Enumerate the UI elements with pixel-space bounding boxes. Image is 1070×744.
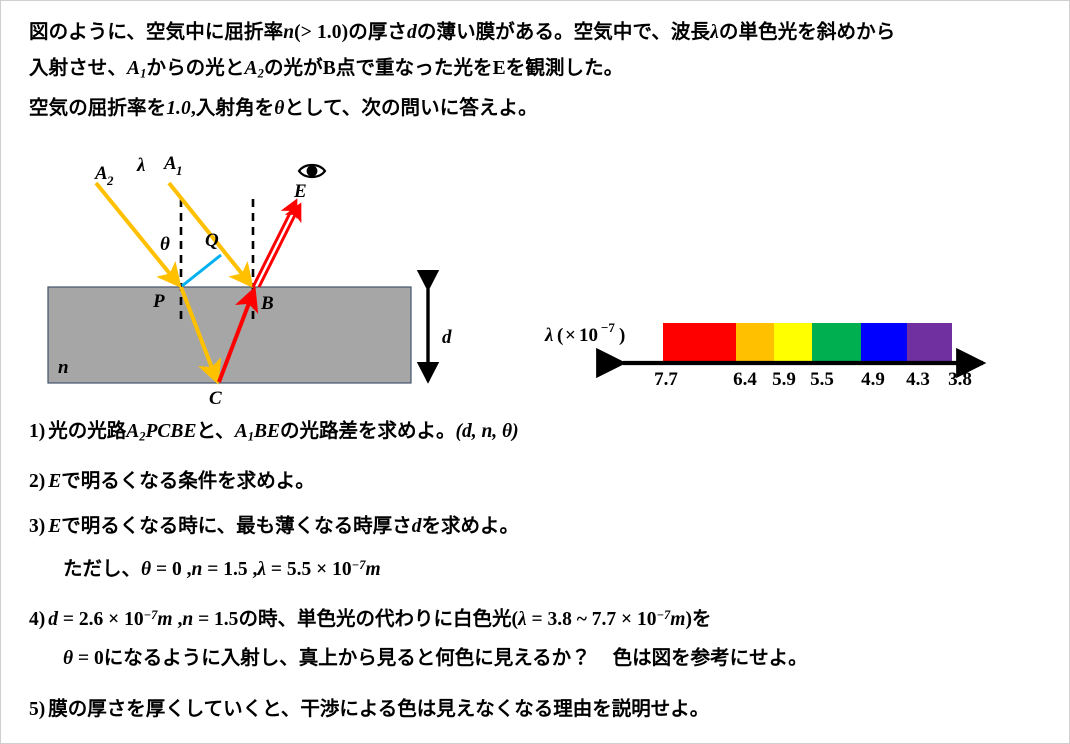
question-2-text: で明るくなる条件を求めよ。: [61, 471, 315, 492]
intro-text-1a: 図のように、空気中に屈折率: [29, 22, 283, 43]
value-air-index: 1.0: [166, 98, 191, 119]
tick-5-9: 5.9: [772, 369, 796, 390]
tick-4-9: 4.9: [861, 369, 885, 390]
label-d: d: [442, 327, 452, 348]
question-4-d-exp: −7: [144, 608, 158, 622]
question-4-lambda-unit: m: [670, 609, 685, 630]
thin-film-diagram: A 2 λ A 1 E θ Q P B C n d: [1, 151, 501, 416]
question-3-eq2: = 1.5 ,: [202, 560, 257, 581]
intro-text-2c: の光がB点で重なった光をEを観測した。: [264, 58, 623, 79]
question-1-answer-vars: (d, n, θ): [455, 421, 518, 442]
intro-text-1e: の薄い膜がある。空気中で、波長: [417, 22, 710, 43]
question-4-lambda-symbol: λ: [518, 609, 527, 630]
question-3-lambda: λ: [257, 560, 266, 581]
tick-5-5: 5.5: [810, 369, 834, 390]
question-4: 4)d = 2.6 × 10−7m ,n = 1.5の時、単色光の代わりに白色光…: [29, 601, 1049, 673]
question-4-lambda-exp: −7: [656, 608, 670, 622]
tick-4-3: 4.3: [906, 369, 930, 390]
question-4-sub-text: になるように入射し、真上から見ると何色に見えるか？: [104, 648, 591, 669]
spectrum-axis-label: λ ( × 10 −7 ): [544, 320, 625, 346]
var-theta-1: θ: [274, 98, 284, 119]
question-4-d-unit: m: [157, 609, 172, 630]
svg-text:): ): [619, 325, 625, 346]
intro-text-1b: (> 1.0): [294, 22, 348, 43]
film-slab: [48, 287, 411, 383]
var-lambda-1: λ: [710, 22, 719, 43]
svg-text:×: ×: [565, 325, 576, 346]
question-list: 1)光の光路A2PCBEと、A1BEの光路差を求めよ。(d, n, θ) 2)E…: [29, 417, 1049, 740]
band-yellow: [774, 323, 812, 361]
svg-text:10: 10: [579, 325, 598, 346]
question-4-number: 4): [29, 609, 45, 630]
question-3-number: 3): [29, 516, 45, 537]
band-violet: [907, 323, 952, 361]
intro-text-3a: 空気の屈折率を: [29, 98, 166, 119]
question-1-path2-rest: BE: [254, 421, 280, 442]
band-red: [663, 323, 736, 361]
label-A2: A: [94, 163, 108, 184]
question-3-unit: m: [365, 560, 380, 581]
question-3-text-2: を求めよ。: [421, 516, 519, 537]
label-P: P: [152, 291, 165, 312]
svg-text:(: (: [557, 325, 563, 346]
question-5-number: 5): [29, 699, 45, 720]
question-1-text-b: と、: [196, 421, 234, 442]
question-1-text-a: 光の光路: [48, 421, 126, 442]
question-5: 5)膜の厚さを厚くしていくと、干渉による色は見えなくなる理由を説明せよ。: [29, 695, 1049, 724]
question-1: 1)光の光路A2PCBEと、A1BEの光路差を求めよ。(d, n, θ): [29, 417, 1049, 451]
label-Q: Q: [205, 230, 219, 251]
question-4-text-a: の時、単色光の代わりに白色光(: [238, 609, 518, 630]
label-E: E: [293, 181, 307, 202]
label-A1: A: [163, 153, 177, 174]
question-3-exp: −7: [352, 558, 366, 572]
question-4-d-symbol: d: [48, 609, 58, 630]
label-theta: θ: [160, 234, 170, 255]
tick-6-4: 6.4: [733, 369, 757, 390]
question-3-symbol-2: d: [412, 516, 422, 537]
question-4-text-b: )を: [685, 609, 711, 630]
question-1-path2: A: [235, 421, 248, 442]
intro-line-1: 図のように、空気中に屈折率n(> 1.0)の厚さdの薄い膜がある。空気中で、波長…: [29, 15, 1049, 51]
question-1-number: 1): [29, 421, 45, 442]
var-A2: A: [244, 58, 257, 79]
document-page: 図のように、空気中に屈折率n(> 1.0)の厚さdの薄い膜がある。空気中で、波長…: [0, 0, 1070, 744]
question-2: 2)Eで明るくなる条件を求めよ。: [29, 467, 1049, 496]
intro-text-1c: の厚さ: [348, 22, 407, 43]
intro-paragraph: 図のように、空気中に屈折率n(> 1.0)の厚さdの薄い膜がある。空気中で、波長…: [29, 15, 1049, 127]
question-3-symbol: E: [48, 516, 61, 537]
question-5-text: 膜の厚さを厚くしていくと、干渉による色は見えなくなる理由を説明せよ。: [48, 699, 709, 720]
question-3: 3)Eで明るくなる時に、最も薄くなる時厚さdを求めよ。 ただし、θ = 0 ,n…: [29, 512, 1049, 584]
label-A1-sub: 1: [176, 163, 183, 178]
question-3-theta: θ: [141, 560, 151, 581]
question-2-symbol: E: [48, 471, 61, 492]
question-3-eq3: = 5.5 × 10: [266, 560, 352, 581]
var-A1: A: [127, 58, 140, 79]
question-3-eq1: = 0 ,: [151, 560, 191, 581]
spectrum-chart: λ ( × 10 −7 ) 7.7 6.4 5: [531, 301, 1001, 411]
question-4-theta-eq: = 0: [73, 648, 104, 669]
label-n: n: [58, 357, 69, 378]
wavefront-PQ: [182, 255, 221, 286]
ray-B-to-E-1: [253, 201, 296, 287]
label-A2-sub: 2: [106, 173, 114, 188]
intro-line-2: 入射させ、A1からの光とA2の光がB点で重なった光をEを観測した。: [29, 51, 1049, 91]
label-B: B: [260, 293, 274, 314]
question-4-theta: θ: [63, 648, 73, 669]
label-lambda: λ: [136, 155, 145, 176]
question-3-text: で明るくなる時に、最も薄くなる時厚さ: [61, 516, 411, 537]
tick-3-8: 3.8: [948, 369, 972, 390]
intro-text-2b: からの光と: [146, 58, 244, 79]
question-4-n-symbol: n: [182, 609, 193, 630]
question-3-n: n: [192, 560, 203, 581]
intro-text-1f: の単色光を斜めから: [719, 22, 895, 43]
band-green: [812, 323, 861, 361]
label-C: C: [209, 388, 222, 409]
question-1-path1-rest: PCBE: [146, 421, 197, 442]
question-4-n-value: = 1.5: [193, 609, 238, 630]
question-3-given: ただし、θ = 0 ,n = 1.5 ,λ = 5.5 × 10−7m: [29, 551, 1049, 584]
var-n-1: n: [283, 22, 294, 43]
spectrum-tick-labels: 7.7 6.4 5.9 5.5 4.9 4.3 3.8: [654, 369, 972, 390]
intro-text-3c: として、次の問いに答えよ。: [285, 98, 538, 119]
ray-B-to-E-2: [259, 205, 300, 287]
band-blue: [861, 323, 907, 361]
question-3-given-a: ただし、: [63, 560, 141, 581]
question-4-sub-text-2: 色は図を参考にせよ。: [613, 648, 808, 669]
tick-7-7: 7.7: [654, 369, 678, 390]
question-4-d-value: = 2.6 × 10: [58, 609, 144, 630]
question-4-continuation: θ = 0になるように入射し、真上から見ると何色に見えるか？色は図を参考にせよ。: [29, 644, 1049, 673]
band-orange: [736, 323, 774, 361]
intro-line-3: 空気の屈折率を1.0,入射角をθとして、次の問いに答えよ。: [29, 91, 1049, 127]
intro-text-3b: ,入射角を: [191, 98, 274, 119]
var-d-1: d: [407, 22, 417, 43]
question-1-text-c: の光路差を求めよ。: [280, 421, 456, 442]
question-2-number: 2): [29, 471, 45, 492]
svg-text:λ: λ: [544, 325, 553, 346]
intro-text-2a: 入射させ、: [29, 58, 127, 79]
question-4-lambda-value: = 3.8 ~ 7.7 × 10: [527, 609, 657, 630]
question-1-path1: A: [126, 421, 139, 442]
eye-icon: [299, 165, 325, 177]
spectrum-bands: [663, 323, 952, 361]
svg-text:−7: −7: [601, 320, 615, 335]
